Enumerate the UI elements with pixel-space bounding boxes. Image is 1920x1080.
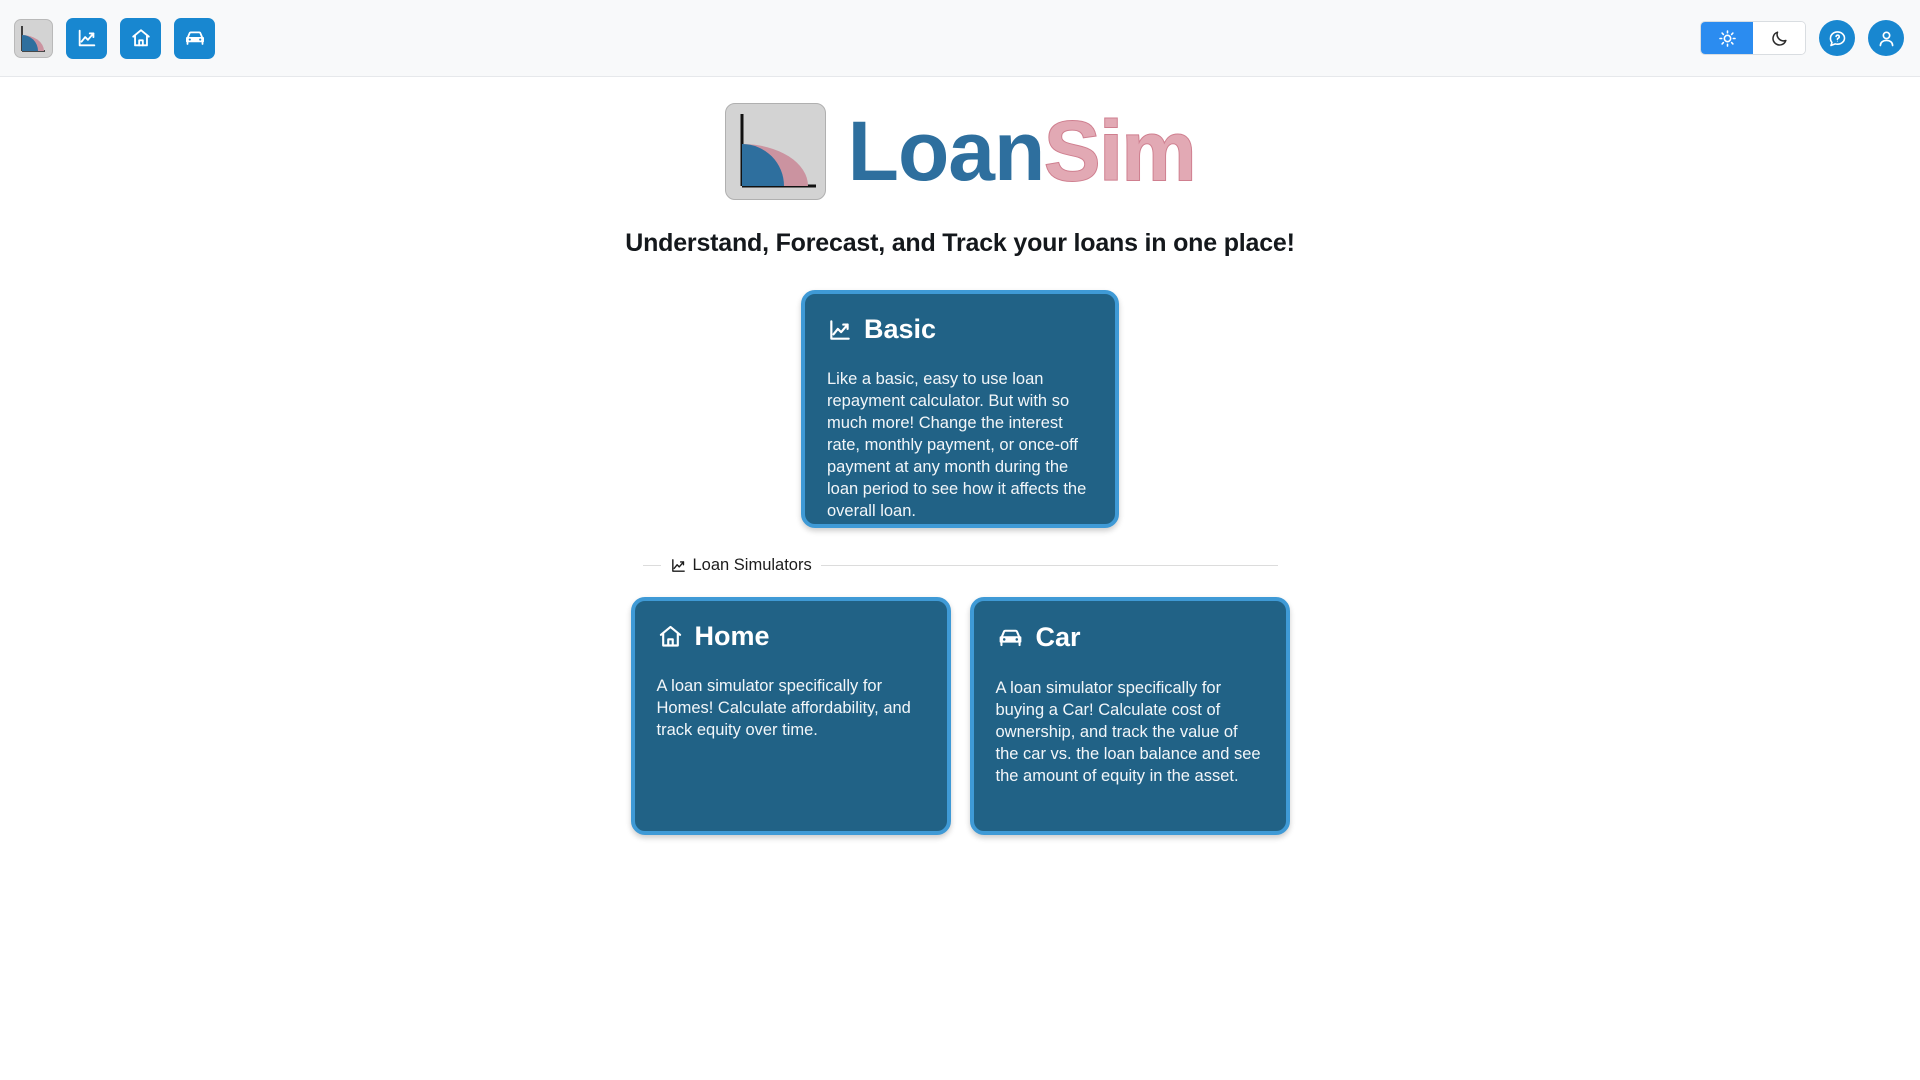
card-car[interactable]: Car A loan simulator specifically for bu… [970, 597, 1290, 835]
top-navbar [0, 0, 1920, 77]
card-home-description: A loan simulator specifically for Homes!… [657, 676, 925, 742]
card-home-title: Home [695, 623, 770, 650]
card-basic-header: Basic [827, 316, 1093, 343]
navbar-right-group [1700, 20, 1904, 56]
home-icon [657, 623, 684, 650]
chart-line-arrow-icon [76, 27, 98, 49]
divider-line-left [643, 565, 661, 566]
card-car-title: Car [1036, 624, 1081, 651]
nav-button-car[interactable] [174, 18, 215, 59]
main-content: LoanSim Understand, Forecast, and Track … [0, 77, 1920, 835]
nav-button-basic[interactable] [66, 18, 107, 59]
card-car-description: A loan simulator specifically for buying… [996, 678, 1264, 788]
loansim-logo-large-icon [725, 103, 826, 200]
brand-wordmark: LoanSim [848, 109, 1196, 193]
loansim-logo-icon[interactable] [14, 19, 53, 58]
home-icon [130, 27, 152, 49]
card-basic-description: Like a basic, easy to use loan repayment… [827, 369, 1093, 523]
theme-dark-button[interactable] [1753, 22, 1805, 54]
loan-simulators-divider: Loan Simulators [643, 556, 1278, 575]
card-basic-title: Basic [864, 316, 936, 343]
card-basic[interactable]: Basic Like a basic, easy to use loan rep… [801, 290, 1119, 528]
account-button[interactable] [1868, 20, 1904, 56]
sun-icon [1718, 29, 1737, 48]
user-person-icon [1876, 28, 1897, 49]
hero-logo: LoanSim [725, 99, 1196, 203]
theme-light-button[interactable] [1701, 22, 1753, 54]
feedback-button[interactable] [1819, 20, 1855, 56]
chat-bubble-question-icon [1827, 28, 1848, 49]
simulator-cards-row: Home A loan simulator specifically for H… [631, 597, 1290, 835]
divider-line-right [821, 565, 1278, 566]
car-icon [996, 623, 1025, 652]
card-car-header: Car [996, 623, 1264, 652]
chart-line-arrow-icon [827, 317, 853, 343]
moon-icon [1770, 29, 1789, 48]
divider-label: Loan Simulators [670, 556, 812, 575]
theme-toggle[interactable] [1700, 21, 1806, 55]
hero-tagline: Understand, Forecast, and Track your loa… [625, 229, 1295, 258]
navbar-left-group [14, 18, 215, 59]
brand-word-loan: Loan [848, 104, 1045, 198]
divider-label-text: Loan Simulators [693, 556, 812, 575]
card-home[interactable]: Home A loan simulator specifically for H… [631, 597, 951, 835]
nav-button-home[interactable] [120, 18, 161, 59]
brand-word-sim: Sim [1044, 104, 1195, 198]
card-home-header: Home [657, 623, 925, 650]
car-icon [183, 26, 207, 50]
chart-line-arrow-icon [670, 557, 687, 574]
